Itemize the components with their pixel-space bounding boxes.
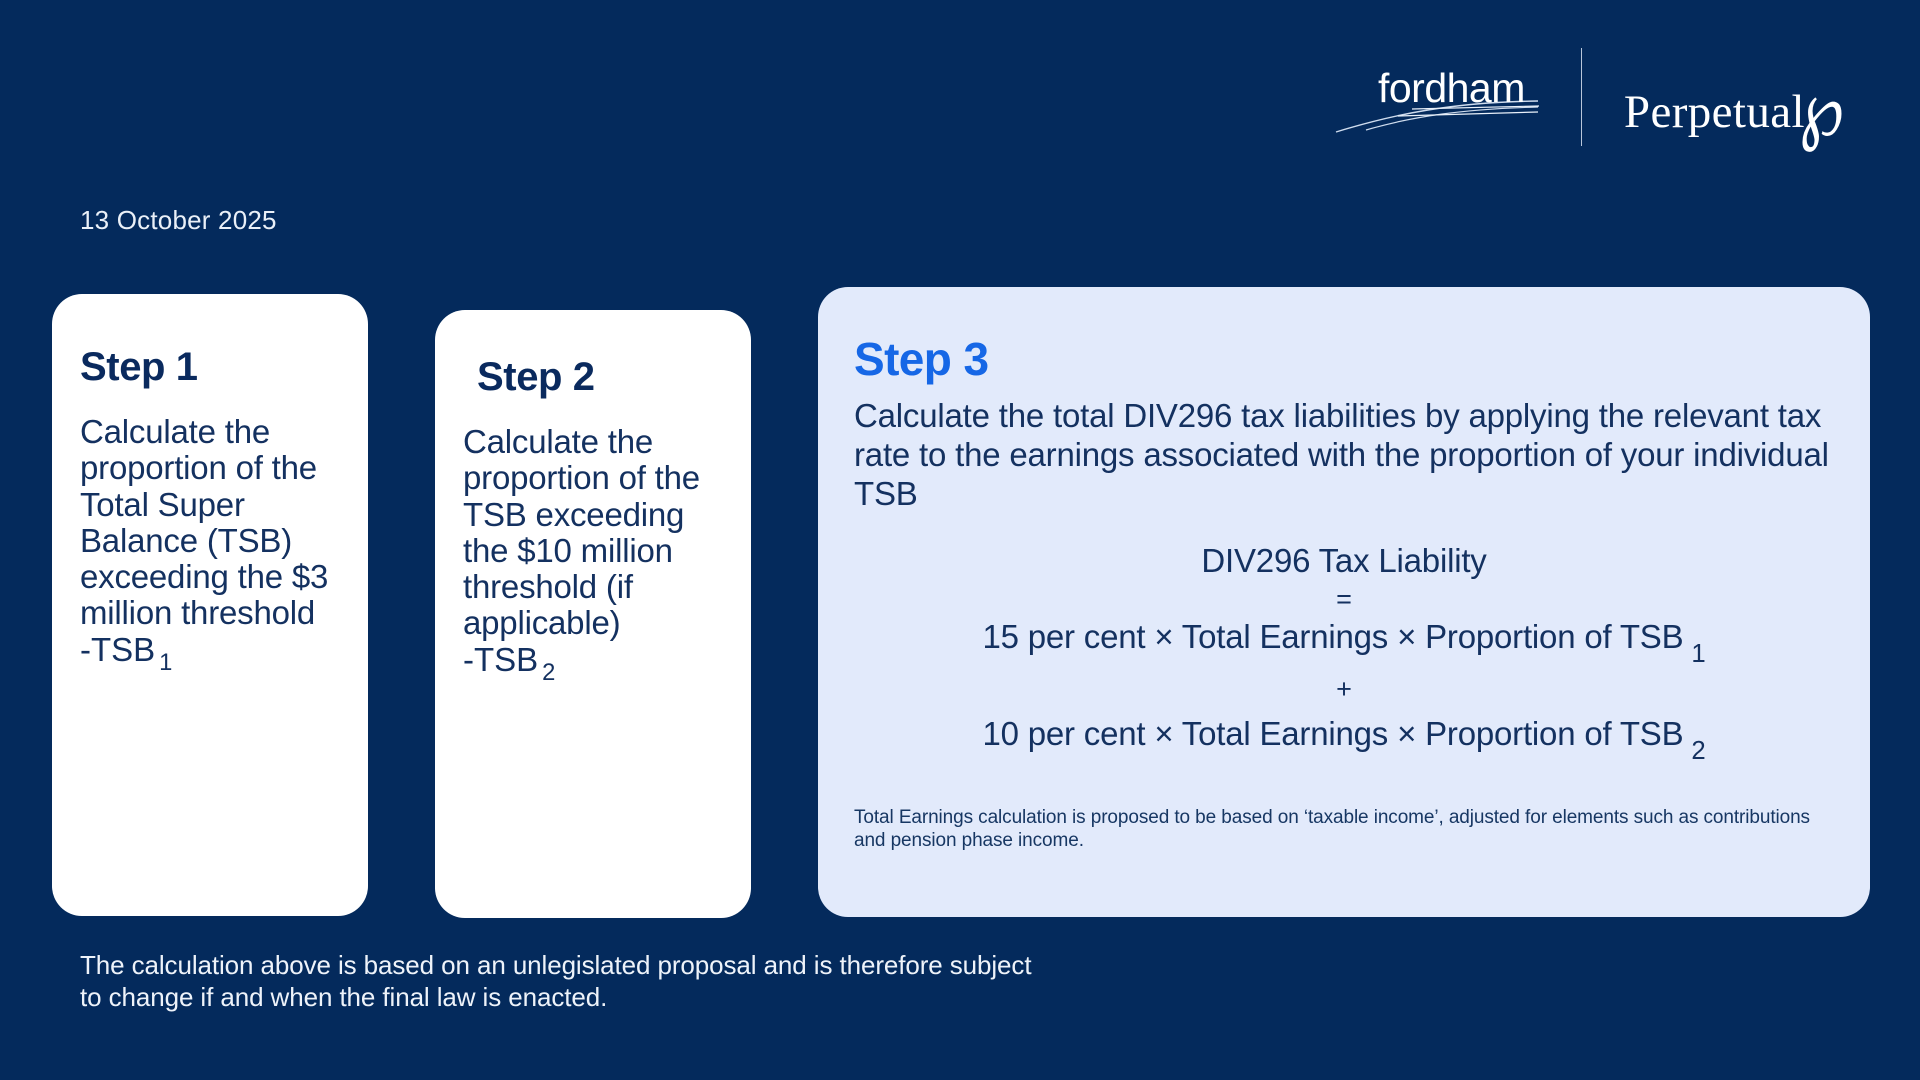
fordham-logo: fordham xyxy=(1334,54,1539,140)
formula-term-1-text: 15 per cent × Total Earnings × Proportio… xyxy=(982,618,1683,655)
formula-term-2-text: 10 per cent × Total Earnings × Proportio… xyxy=(982,715,1683,752)
perpetual-wordmark: Perpetual xyxy=(1624,89,1805,136)
fordham-wordmark: fordham xyxy=(1378,68,1525,109)
step-2-title: Step 2 xyxy=(477,356,723,398)
step-1-tsb: -TSB1 xyxy=(80,632,340,676)
step-2-body: Calculate the proportion of the TSB exce… xyxy=(463,424,723,642)
slide-date: 13 October 2025 xyxy=(80,205,277,236)
step-1-title: Step 1 xyxy=(80,346,340,388)
step-2-tsb-label: -TSB xyxy=(463,641,538,678)
step-3-title: Step 3 xyxy=(854,335,1834,383)
formula-equals: = xyxy=(854,579,1834,620)
step-2-tsb: -TSB2 xyxy=(463,642,723,686)
step-1-tsb-subscript: 1 xyxy=(159,649,172,676)
step-card-3: Step 3 Calculate the total DIV296 tax li… xyxy=(818,287,1870,917)
formula-term-2: 10 per cent × Total Earnings × Proportio… xyxy=(854,716,1834,766)
formula-term-1-subscript: 1 xyxy=(1691,640,1705,668)
perpetual-logo: Perpetual ℘ xyxy=(1624,51,1858,143)
brand-logo: fordham Perpetual ℘ xyxy=(1334,42,1858,152)
step-3-footnote: Total Earnings calculation is proposed t… xyxy=(854,806,1834,854)
div296-formula: DIV296 Tax Liability = 15 per cent × Tot… xyxy=(854,543,1834,766)
step-card-1: Step 1 Calculate the proportion of the T… xyxy=(52,294,368,916)
step-3-body: Calculate the total DIV296 tax liabiliti… xyxy=(854,397,1834,513)
formula-plus: + xyxy=(854,669,1834,710)
perpetual-flourish-icon: ℘ xyxy=(1799,71,1844,147)
step-1-tsb-label: -TSB xyxy=(80,631,155,668)
logo-divider xyxy=(1581,48,1582,146)
step-2-tsb-subscript: 2 xyxy=(542,659,555,686)
step-card-2: Step 2 Calculate the proportion of the T… xyxy=(435,310,751,918)
formula-heading: DIV296 Tax Liability xyxy=(854,543,1834,579)
step-1-body: Calculate the proportion of the Total Su… xyxy=(80,414,340,632)
formula-term-1: 15 per cent × Total Earnings × Proportio… xyxy=(854,619,1834,669)
disclaimer-text: The calculation above is based on an unl… xyxy=(80,950,1040,1013)
formula-term-2-subscript: 2 xyxy=(1691,737,1705,765)
